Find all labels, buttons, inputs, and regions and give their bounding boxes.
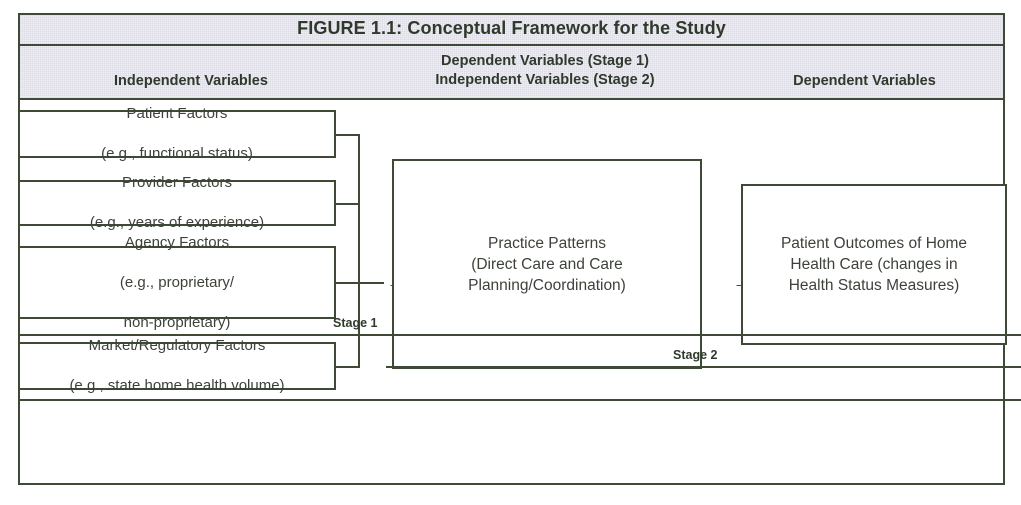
connector-spine-upper <box>358 134 360 203</box>
connector-stub-provider <box>334 203 360 205</box>
connector-stub-agency <box>334 282 360 284</box>
column-header-middle-line2: Independent Variables (Stage 2) <box>360 71 730 90</box>
figure-title-band: FIGURE 1.1: Conceptual Framework for the… <box>20 15 1003 46</box>
column-header-middle-line1: Dependent Variables (Stage 1) <box>360 52 730 71</box>
column-header-band: Independent Variables Dependent Variable… <box>20 46 1003 100</box>
factor-box-provider-line1: Provider Factors <box>84 173 270 193</box>
factor-box-provider-line2: (e.g., years of experience) <box>84 213 270 233</box>
factor-box-market-regulatory: Market/Regulatory Factors (e.g., state h… <box>18 342 336 390</box>
stage-2-rule <box>386 366 1021 368</box>
patient-outcomes-box: Patient Outcomes of Home Health Care (ch… <box>741 184 1007 345</box>
factor-box-market-line2: (e.g., state home health volume) <box>63 376 290 396</box>
practice-patterns-box: Practice Patterns (Direct Care and Care … <box>392 159 702 369</box>
factor-box-patient-line2: (e.g., functional status) <box>95 144 259 164</box>
factor-box-patient: Patient Factors (e.g., functional status… <box>18 110 336 158</box>
patient-outcomes-line1: Patient Outcomes of Home <box>781 235 967 252</box>
practice-patterns-line2: (Direct Care and Care <box>471 256 623 273</box>
factor-box-market-line1: Market/Regulatory Factors <box>63 336 290 356</box>
factor-box-agency: Agency Factors (e.g., proprietary/ non-p… <box>18 246 336 319</box>
connector-stub-patient <box>334 134 360 136</box>
factor-box-agency-line2: (e.g., proprietary/ <box>114 273 240 293</box>
patient-outcomes-line2: Health Care (changes in <box>790 256 957 273</box>
connector-stub-to-arrow <box>358 282 384 284</box>
patient-outcomes-line3: Health Status Measures) <box>789 277 960 294</box>
factor-box-agency-line1: Agency Factors <box>114 233 240 253</box>
practice-patterns-line3: Planning/Coordination) <box>468 277 626 294</box>
column-header-left: Independent Variables <box>26 72 356 91</box>
figure-bottom-rule <box>18 399 1021 401</box>
figure-body: Patient Factors (e.g., functional status… <box>20 98 1003 483</box>
connector-spine-middle <box>358 203 360 282</box>
practice-patterns-line1: Practice Patterns <box>488 235 606 252</box>
figure-title: FIGURE 1.1: Conceptual Framework for the… <box>20 18 1003 39</box>
factor-box-agency-line3: non-proprietary) <box>114 313 240 333</box>
stage-1-rule <box>18 334 1021 336</box>
stage-1-label: Stage 1 <box>333 316 377 330</box>
column-header-middle: Dependent Variables (Stage 1) Independen… <box>360 52 730 90</box>
figure-outer-frame: FIGURE 1.1: Conceptual Framework for the… <box>18 13 1005 485</box>
factor-box-provider: Provider Factors (e.g., years of experie… <box>18 180 336 226</box>
factor-box-patient-line1: Patient Factors <box>95 104 259 124</box>
stage-2-label: Stage 2 <box>673 348 717 362</box>
connector-stub-market <box>334 366 360 368</box>
column-header-right: Dependent Variables <box>732 72 997 91</box>
figure-conceptual-framework: FIGURE 1.1: Conceptual Framework for the… <box>0 0 1021 505</box>
